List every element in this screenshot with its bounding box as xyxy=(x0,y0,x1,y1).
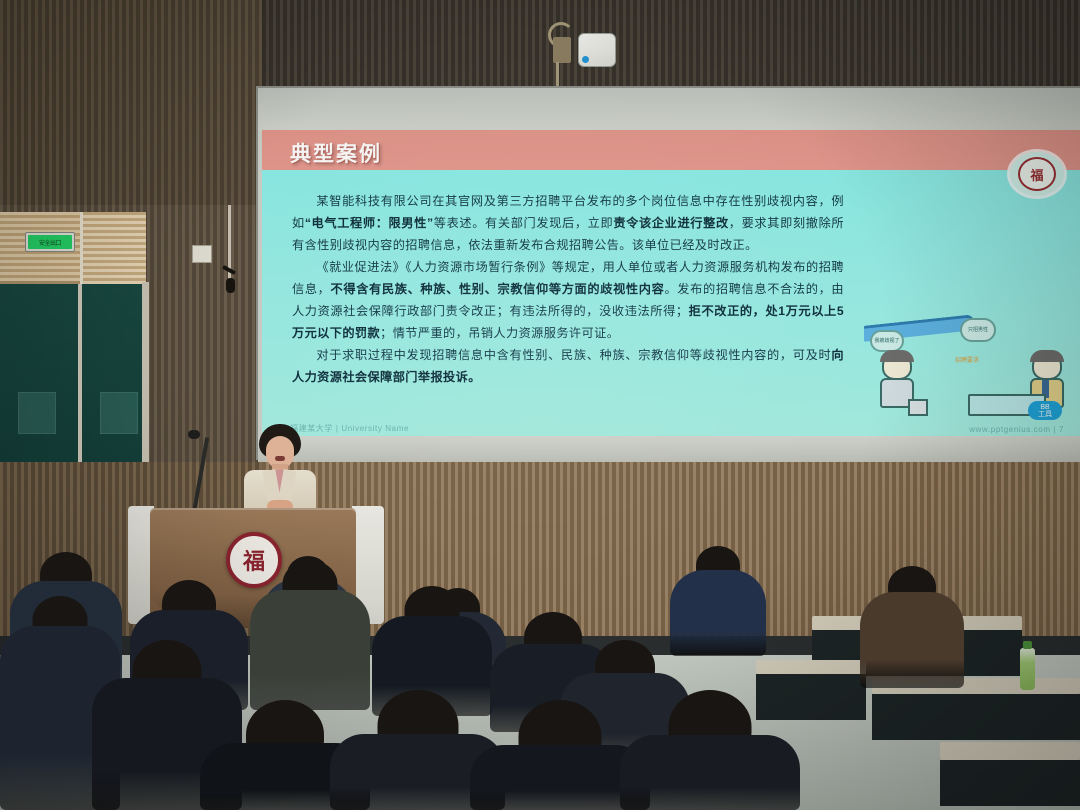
exit-sign: 安全出口 xyxy=(25,232,75,252)
wifi-access-point-icon xyxy=(578,33,616,67)
presenter xyxy=(239,424,319,512)
slide-text-emphasis: 责令该企业进行整改 xyxy=(613,216,728,230)
audience-member xyxy=(860,566,964,688)
slide-footer-right: www.pptgenius.com | 7 xyxy=(969,425,1064,434)
ap-mount-bracket xyxy=(553,37,571,63)
student-desk xyxy=(756,660,866,674)
ppt-badge-line2: 工具 xyxy=(1038,411,1052,418)
desk-front-panel xyxy=(940,760,1080,806)
audience-jacket xyxy=(860,592,964,688)
audience-jacket xyxy=(620,735,800,810)
door-frame xyxy=(142,282,149,472)
teal-door xyxy=(0,284,146,470)
bottle-cap xyxy=(1023,641,1032,649)
presentation-slide: 典型案例 福 某智能科技有限公司在其官网及第三方招聘平台发布的多个岗位信息中存在… xyxy=(262,130,1080,440)
microphone-icon xyxy=(188,430,200,439)
audience-member xyxy=(250,560,370,710)
cartoon-hair-icon xyxy=(880,350,914,362)
slide-paragraph: 对于求职过程中发现招聘信息中含有性别、民族、种族、宗教信仰等歧视性内容的，可及时… xyxy=(292,344,844,388)
slide-title: 典型案例 xyxy=(290,138,382,168)
cartoon-hair-icon xyxy=(1030,350,1064,362)
ppt-tool-badge: BB 工具 xyxy=(1028,401,1062,420)
slide-title-banner xyxy=(262,130,1080,170)
cartoon-label-middle: 招聘要求 xyxy=(950,352,984,370)
slide-text-run: ；情节严重的，吊销人力资源服务许可证。 xyxy=(380,326,619,340)
wall-camera-icon xyxy=(226,278,235,293)
cartoon-bubble-left: 我被歧视了 xyxy=(870,330,904,352)
slide-text-run: 等表述。有关部门发现后，立即 xyxy=(434,216,614,230)
left-upper-wall xyxy=(0,0,262,205)
audience-member xyxy=(620,690,800,810)
slide-text-emphasis: 不得含有民族、种族、性别、宗教信仰等方面的歧视性内容 xyxy=(331,282,665,296)
exit-sign-label: 安全出口 xyxy=(28,235,72,249)
slide-paragraph: 某智能科技有限公司在其官网及第三方招聘平台发布的多个岗位信息中存在性别歧视内容，… xyxy=(292,190,844,256)
window-blinds-secondary xyxy=(80,212,146,284)
screen-bottom-bar xyxy=(258,436,1080,462)
door-divider xyxy=(78,284,82,470)
university-seal-logo: 福 xyxy=(1010,152,1064,196)
slide-text-emphasis: “电气工程师：限男性” xyxy=(305,216,434,230)
desk-front-panel xyxy=(872,694,1080,740)
lecture-hall-photo: 安全出口 典型案例 福 某智能科技有限公司在其官网及第三方招聘平台发布的多个岗位… xyxy=(0,0,1080,810)
slide-paragraph: 《就业促进法》《人力资源市场暂行条例》等规定，用人单位或者人力资源服务机构发布的… xyxy=(292,256,844,344)
ppt-badge-line1: BB xyxy=(1040,404,1049,411)
cartoon-bag-icon xyxy=(908,399,928,416)
presenter-mouth xyxy=(275,456,285,461)
seal-character: 福 xyxy=(1018,157,1056,191)
door-panel-left xyxy=(18,392,56,434)
wall-switch-box xyxy=(192,245,212,263)
student-desk xyxy=(940,742,1080,760)
screen-top-band xyxy=(258,88,1080,132)
door-panel-right xyxy=(100,392,138,434)
slide-text-run: 对于求职过程中发现招聘信息中含有性别、民族、种族、宗教信仰等歧视性内容的，可及时 xyxy=(316,348,831,362)
ap-status-led xyxy=(582,56,589,63)
cartoon-bubble-right: 只招男性 xyxy=(960,318,996,342)
water-bottle xyxy=(1020,648,1035,690)
slide-body-text: 某智能科技有限公司在其官网及第三方招聘平台发布的多个岗位信息中存在性别歧视内容，… xyxy=(292,190,844,388)
